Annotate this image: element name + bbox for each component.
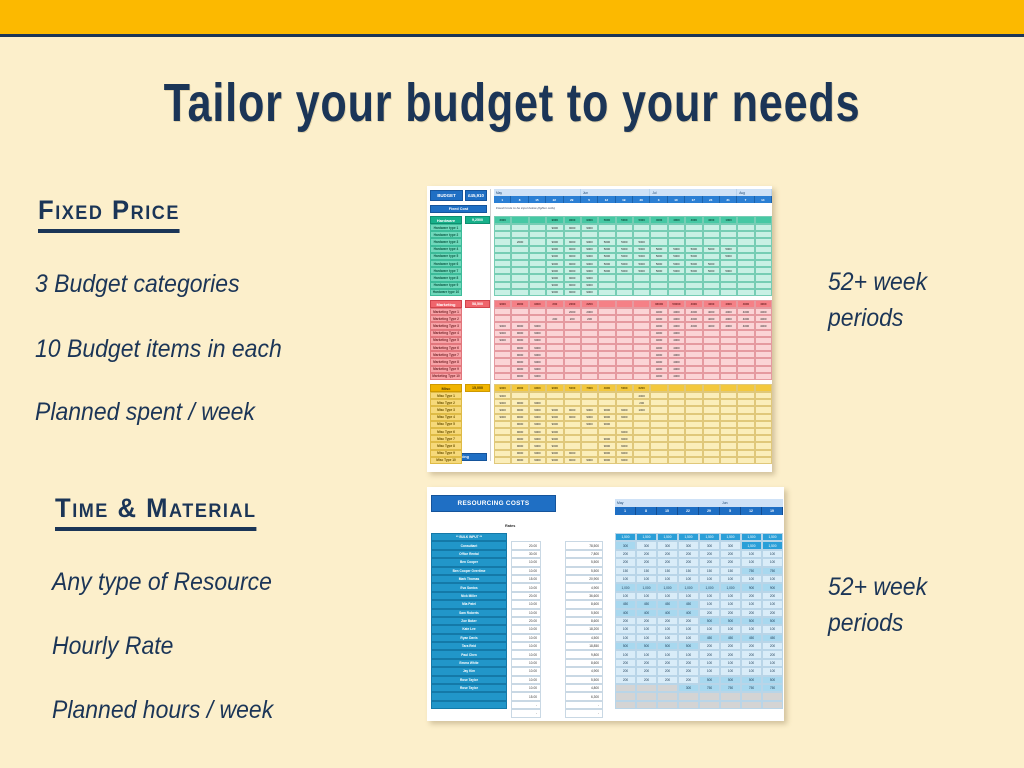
budget-total-cell[interactable]: 6200 — [633, 384, 650, 392]
budget-cell[interactable] — [685, 373, 702, 380]
budget-cell[interactable] — [546, 322, 563, 329]
resource-name[interactable]: Mark Thomas — [431, 575, 507, 583]
budget-cell[interactable]: 9000 — [546, 289, 563, 296]
budget-cell[interactable]: 9000 — [581, 421, 598, 428]
resource-rate[interactable]: 10.00 — [511, 609, 541, 617]
resourcing-cell[interactable]: 100 — [699, 600, 720, 608]
budget-cell[interactable]: 5000 — [650, 253, 667, 260]
budget-cell[interactable] — [650, 414, 667, 421]
budget-cell[interactable] — [703, 373, 720, 380]
budget-cell[interactable] — [650, 406, 667, 413]
budget-cell[interactable] — [581, 428, 598, 435]
resourcing-cell[interactable] — [636, 684, 657, 692]
budget-cell[interactable] — [737, 392, 754, 399]
budget-cell[interactable]: 5000 — [598, 238, 615, 245]
budget-cell[interactable] — [755, 392, 772, 399]
budget-cell[interactable]: 5000 — [650, 267, 667, 274]
budget-cell[interactable] — [494, 450, 511, 457]
budget-cell[interactable] — [546, 373, 563, 380]
budget-cell[interactable] — [633, 450, 650, 457]
budget-cell[interactable] — [703, 366, 720, 373]
resourcing-cell[interactable]: 450 — [615, 600, 636, 608]
budget-cell[interactable] — [529, 308, 546, 315]
resourcing-cell[interactable]: 100 — [762, 550, 783, 558]
resourcing-cell[interactable] — [657, 684, 678, 692]
resourcing-cell[interactable]: 200 — [657, 558, 678, 566]
budget-cell[interactable] — [511, 282, 528, 289]
budget-cell[interactable] — [564, 428, 581, 435]
budget-cell[interactable]: 9000 — [616, 435, 633, 442]
budget-cell[interactable] — [511, 315, 528, 322]
budget-total-cell[interactable]: 9000 — [546, 216, 563, 224]
budget-cell[interactable] — [737, 358, 754, 365]
budget-cell[interactable]: 9000 — [494, 322, 511, 329]
budget-cell[interactable] — [494, 282, 511, 289]
resource-name[interactable]: Ryan Davis — [431, 634, 507, 642]
budget-total-cell[interactable]: 5000 — [633, 216, 650, 224]
budget-cell[interactable] — [616, 289, 633, 296]
budget-cell[interactable]: 5000 — [633, 238, 650, 245]
resourcing-cell[interactable]: 200 — [678, 667, 699, 675]
budget-cell[interactable] — [703, 224, 720, 231]
budget-cell[interactable] — [685, 435, 702, 442]
resourcing-cell[interactable]: 500 — [678, 642, 699, 650]
budget-cell[interactable]: 9000 — [564, 274, 581, 281]
budget-cell[interactable] — [633, 231, 650, 238]
budget-cell[interactable] — [685, 358, 702, 365]
budget-total-cell[interactable]: 9000 — [511, 300, 528, 308]
budget-cell[interactable] — [633, 457, 650, 464]
budget-cell[interactable]: 9000 — [511, 406, 528, 413]
budget-cell[interactable] — [720, 358, 737, 365]
budget-cell[interactable] — [616, 373, 633, 380]
budget-cell[interactable] — [737, 253, 754, 260]
resourcing-cell[interactable]: 100 — [699, 625, 720, 633]
budget-cell[interactable] — [616, 231, 633, 238]
resourcing-cell[interactable]: 100 — [741, 625, 762, 633]
budget-cell[interactable]: 9000 — [511, 450, 528, 457]
budget-cell[interactable]: 4000 — [668, 373, 685, 380]
budget-cell[interactable] — [720, 414, 737, 421]
budget-cell[interactable]: 9000 — [598, 414, 615, 421]
budget-cell[interactable]: 9000 — [511, 373, 528, 380]
resourcing-cell[interactable]: 100 — [678, 575, 699, 583]
resourcing-cell[interactable]: 200 — [657, 667, 678, 675]
budget-cell[interactable] — [737, 231, 754, 238]
budget-cell[interactable] — [720, 428, 737, 435]
budget-cell[interactable]: 5000 — [720, 246, 737, 253]
budget-cell[interactable]: 9000 — [529, 358, 546, 365]
budget-cell[interactable]: 9000 — [598, 457, 615, 464]
resourcing-cell[interactable]: 200 — [741, 609, 762, 617]
resourcing-cell[interactable]: 200 — [678, 676, 699, 684]
budget-cell[interactable]: 9000 — [581, 406, 598, 413]
budget-cell[interactable]: 4000 — [737, 315, 754, 322]
resourcing-cell[interactable]: 100 — [741, 550, 762, 558]
resourcing-cell[interactable]: 200 — [615, 659, 636, 667]
budget-cell[interactable] — [511, 246, 528, 253]
budget-cell[interactable]: 9000 — [598, 421, 615, 428]
budget-cell[interactable] — [668, 428, 685, 435]
budget-cell[interactable] — [685, 366, 702, 373]
budget-cell[interactable] — [685, 392, 702, 399]
budget-cell[interactable]: 9000 — [546, 274, 563, 281]
budget-cell[interactable] — [668, 406, 685, 413]
resourcing-cell[interactable]: 500 — [657, 642, 678, 650]
budget-cell[interactable] — [685, 224, 702, 231]
budget-cell[interactable] — [494, 246, 511, 253]
budget-cell[interactable] — [633, 414, 650, 421]
budget-cell[interactable] — [737, 399, 754, 406]
resourcing-cell[interactable]: 100 — [636, 625, 657, 633]
budget-cell[interactable] — [494, 253, 511, 260]
budget-cell[interactable]: 9000 — [511, 457, 528, 464]
resourcing-cell[interactable]: 100 — [741, 575, 762, 583]
budget-cell[interactable] — [755, 260, 772, 267]
budget-cell[interactable] — [511, 253, 528, 260]
resourcing-cell[interactable]: 100 — [699, 592, 720, 600]
resourcing-cell[interactable]: 1,000 — [615, 583, 636, 591]
resourcing-cell[interactable] — [678, 692, 699, 700]
budget-cell[interactable] — [755, 442, 772, 449]
resourcing-cell[interactable]: 200 — [636, 550, 657, 558]
resourcing-cell[interactable]: 200 — [699, 550, 720, 558]
budget-cell[interactable]: 4000 — [650, 373, 667, 380]
budget-cell[interactable] — [616, 337, 633, 344]
budget-total-cell[interactable]: 1000 — [720, 216, 737, 224]
budget-cell[interactable]: 4000 — [668, 337, 685, 344]
budget-cell[interactable]: 5000 — [633, 260, 650, 267]
budget-cell[interactable] — [703, 231, 720, 238]
resource-rate[interactable]: 10.00 — [511, 567, 541, 575]
resourcing-cell[interactable]: 1,500 — [762, 541, 783, 549]
budget-total-cell[interactable] — [703, 384, 720, 392]
resourcing-cell[interactable]: 450 — [699, 634, 720, 642]
budget-cell[interactable] — [737, 373, 754, 380]
budget-cell[interactable] — [737, 330, 754, 337]
budget-cell[interactable] — [755, 238, 772, 245]
budget-total-cell[interactable]: 4000 — [703, 216, 720, 224]
budget-cell[interactable]: 5000 — [633, 267, 650, 274]
budget-cell[interactable]: 4000 — [755, 322, 772, 329]
resourcing-cell[interactable]: 1,500 — [678, 533, 699, 541]
budget-cell[interactable]: 9000 — [546, 421, 563, 428]
resourcing-cell[interactable]: 300 — [720, 541, 741, 549]
budget-cell[interactable]: 9000 — [581, 282, 598, 289]
resourcing-cell[interactable]: 450 — [741, 634, 762, 642]
budget-total-cell[interactable]: 9000 — [494, 384, 511, 392]
budget-cell[interactable] — [650, 442, 667, 449]
budget-cell[interactable] — [685, 399, 702, 406]
resourcing-cell[interactable]: 500 — [741, 617, 762, 625]
budget-cell[interactable] — [685, 238, 702, 245]
budget-total-cell[interactable]: 2200 — [581, 300, 598, 308]
budget-cell[interactable] — [703, 238, 720, 245]
budget-cell[interactable]: 9000 — [546, 282, 563, 289]
budget-cell[interactable]: 4000 — [650, 322, 667, 329]
budget-cell[interactable]: 9000 — [529, 435, 546, 442]
budget-cell[interactable] — [633, 337, 650, 344]
budget-cell[interactable]: 9000 — [564, 406, 581, 413]
resourcing-cell[interactable]: 900 — [762, 583, 783, 591]
budget-cell[interactable] — [737, 224, 754, 231]
budget-cell[interactable] — [598, 366, 615, 373]
resource-name[interactable]: Rose Taylor — [431, 684, 507, 692]
budget-cell[interactable] — [564, 392, 581, 399]
budget-cell[interactable]: 4000 — [703, 315, 720, 322]
budget-total-cell[interactable]: 5000 — [616, 384, 633, 392]
resourcing-cell[interactable]: 100 — [678, 625, 699, 633]
budget-cell[interactable]: 9000 — [494, 406, 511, 413]
budget-cell[interactable] — [668, 238, 685, 245]
budget-cell[interactable] — [616, 344, 633, 351]
resourcing-cell[interactable]: 100 — [636, 592, 657, 600]
budget-cell[interactable] — [720, 337, 737, 344]
budget-cell[interactable] — [685, 344, 702, 351]
resourcing-cell[interactable]: 100 — [636, 650, 657, 658]
budget-cell[interactable]: 4000 — [685, 308, 702, 315]
budget-cell[interactable] — [633, 366, 650, 373]
resourcing-cell[interactable]: 100 — [678, 634, 699, 642]
resourcing-cell[interactable]: 200 — [636, 617, 657, 625]
budget-cell[interactable]: 4000 — [650, 330, 667, 337]
budget-total-cell[interactable]: 9000 — [546, 384, 563, 392]
budget-cell[interactable] — [546, 231, 563, 238]
resource-name[interactable]: Emma White — [431, 659, 507, 667]
resourcing-cell[interactable]: 750 — [762, 567, 783, 575]
resourcing-cell[interactable]: 1,500 — [699, 533, 720, 541]
resourcing-cell[interactable] — [720, 701, 741, 709]
budget-cell[interactable] — [755, 406, 772, 413]
resourcing-cell[interactable]: 200 — [699, 642, 720, 650]
budget-cell[interactable]: 4000 — [668, 366, 685, 373]
budget-cell[interactable] — [720, 344, 737, 351]
resourcing-cell[interactable]: 200 — [678, 558, 699, 566]
budget-cell[interactable] — [650, 274, 667, 281]
budget-cell[interactable]: 9000 — [529, 457, 546, 464]
budget-cell[interactable] — [564, 351, 581, 358]
resourcing-cell[interactable]: 300 — [678, 684, 699, 692]
resourcing-cell[interactable]: 400 — [615, 609, 636, 617]
resourcing-cell[interactable]: 500 — [762, 617, 783, 625]
budget-cell[interactable]: 9000 — [494, 330, 511, 337]
budget-cell[interactable]: 9000 — [564, 414, 581, 421]
budget-cell[interactable]: 5000 — [616, 246, 633, 253]
budget-cell[interactable] — [633, 358, 650, 365]
budget-cell[interactable] — [564, 435, 581, 442]
budget-total-cell[interactable]: 4000 — [755, 300, 772, 308]
resourcing-cell[interactable]: 100 — [762, 575, 783, 583]
budget-cell[interactable]: 9000 — [581, 289, 598, 296]
budget-cell[interactable] — [564, 330, 581, 337]
resourcing-cell[interactable]: 100 — [762, 659, 783, 667]
resourcing-cell[interactable]: 450 — [762, 634, 783, 642]
budget-cell[interactable] — [581, 399, 598, 406]
resourcing-cell[interactable]: 200 — [741, 642, 762, 650]
budget-cell[interactable] — [755, 282, 772, 289]
resourcing-cell[interactable]: 100 — [720, 600, 741, 608]
budget-cell[interactable]: 2000 — [581, 308, 598, 315]
budget-cell[interactable] — [633, 351, 650, 358]
resourcing-cell[interactable]: 100 — [615, 650, 636, 658]
resourcing-cell[interactable]: 150 — [615, 567, 636, 575]
resourcing-cell[interactable]: 200 — [657, 550, 678, 558]
budget-cell[interactable]: 9000 — [598, 450, 615, 457]
resourcing-cell[interactable]: 200 — [657, 676, 678, 684]
resource-rate[interactable]: 20.00 — [511, 541, 541, 549]
budget-cell[interactable]: 5000 — [685, 267, 702, 274]
budget-cell[interactable]: 9000 — [494, 399, 511, 406]
budget-cell[interactable] — [529, 289, 546, 296]
budget-cell[interactable] — [633, 224, 650, 231]
resource-name[interactable]: Tara Reid — [431, 642, 507, 650]
budget-cell[interactable]: 9000 — [546, 238, 563, 245]
resourcing-cell[interactable]: 200 — [720, 550, 741, 558]
budget-cell[interactable] — [529, 267, 546, 274]
budget-cell[interactable]: 4000 — [668, 344, 685, 351]
budget-total-cell[interactable]: 4000 — [668, 216, 685, 224]
budget-cell[interactable] — [703, 392, 720, 399]
resourcing-cell[interactable]: 200 — [636, 659, 657, 667]
resource-rate[interactable]: 10.00 — [511, 684, 541, 692]
resourcing-cell[interactable]: 1,000 — [699, 583, 720, 591]
resource-name[interactable]: Consultant — [431, 541, 507, 549]
resourcing-cell[interactable]: 1,500 — [741, 541, 762, 549]
budget-cell[interactable]: 5000 — [616, 260, 633, 267]
budget-cell[interactable] — [685, 428, 702, 435]
budget-cell[interactable] — [720, 224, 737, 231]
budget-cell[interactable] — [633, 315, 650, 322]
resourcing-cell[interactable]: 400 — [678, 609, 699, 617]
budget-cell[interactable] — [668, 399, 685, 406]
budget-cell[interactable] — [494, 274, 511, 281]
budget-cell[interactable]: 9000 — [581, 246, 598, 253]
budget-cell[interactable]: 9000 — [511, 344, 528, 351]
resource-rate[interactable]: 10.00 — [511, 650, 541, 658]
budget-cell[interactable] — [633, 344, 650, 351]
budget-cell[interactable]: 9000 — [511, 414, 528, 421]
budget-cell[interactable] — [650, 231, 667, 238]
budget-cell[interactable] — [598, 344, 615, 351]
budget-cell[interactable] — [511, 392, 528, 399]
budget-cell[interactable] — [703, 337, 720, 344]
budget-total-cell[interactable]: 9000 — [511, 384, 528, 392]
budget-cell[interactable] — [529, 246, 546, 253]
resource-rate[interactable]: 20.00 — [511, 617, 541, 625]
budget-cell[interactable]: 9000 — [529, 428, 546, 435]
budget-cell[interactable]: 9000 — [546, 246, 563, 253]
budget-total-cell[interactable]: 4000 — [685, 216, 702, 224]
budget-cell[interactable] — [650, 421, 667, 428]
resourcing-cell[interactable]: 100 — [678, 592, 699, 600]
budget-cell[interactable] — [581, 322, 598, 329]
budget-cell[interactable]: 5000 — [598, 267, 615, 274]
resourcing-cell[interactable]: 200 — [615, 667, 636, 675]
budget-cell[interactable] — [581, 442, 598, 449]
budget-cell[interactable] — [529, 392, 546, 399]
budget-cell[interactable] — [703, 428, 720, 435]
budget-cell[interactable] — [494, 373, 511, 380]
resourcing-cell[interactable]: 200 — [741, 592, 762, 600]
budget-cell[interactable] — [581, 366, 598, 373]
resourcing-cell[interactable]: 900 — [741, 583, 762, 591]
budget-cell[interactable]: 9000 — [546, 435, 563, 442]
budget-cell[interactable] — [755, 337, 772, 344]
resourcing-cell[interactable] — [657, 692, 678, 700]
budget-cell[interactable]: 9000 — [581, 457, 598, 464]
budget-cell[interactable]: 200 — [633, 399, 650, 406]
budget-cell[interactable] — [616, 308, 633, 315]
budget-cell[interactable] — [511, 231, 528, 238]
budget-cell[interactable] — [668, 274, 685, 281]
budget-cell[interactable] — [755, 253, 772, 260]
budget-cell[interactable] — [737, 442, 754, 449]
resourcing-cell[interactable] — [657, 701, 678, 709]
budget-cell[interactable]: 9000 — [529, 344, 546, 351]
budget-cell[interactable]: 9000 — [581, 260, 598, 267]
budget-cell[interactable]: 9000 — [616, 450, 633, 457]
budget-cell[interactable] — [720, 282, 737, 289]
budget-cell[interactable] — [720, 289, 737, 296]
budget-cell[interactable]: 9000 — [511, 322, 528, 329]
budget-cell[interactable]: 9000 — [546, 428, 563, 435]
budget-cell[interactable] — [720, 351, 737, 358]
budget-cell[interactable]: 9000 — [529, 373, 546, 380]
resourcing-cell[interactable]: 1,500 — [636, 533, 657, 541]
budget-cell[interactable] — [546, 351, 563, 358]
budget-cell[interactable] — [685, 282, 702, 289]
resourcing-cell[interactable]: 500 — [762, 676, 783, 684]
budget-total-cell[interactable] — [755, 216, 772, 224]
budget-total-cell[interactable] — [737, 384, 754, 392]
resource-rate[interactable]: 10.00 — [511, 642, 541, 650]
budget-cell[interactable]: 9000 — [529, 421, 546, 428]
budget-cell[interactable] — [685, 421, 702, 428]
resourcing-cell[interactable]: 200 — [720, 650, 741, 658]
resourcing-cell[interactable] — [741, 692, 762, 700]
resourcing-cell[interactable]: 200 — [720, 558, 741, 566]
budget-cell[interactable]: 2000 — [633, 392, 650, 399]
budget-total-cell[interactable] — [633, 300, 650, 308]
budget-cell[interactable]: 9000 — [581, 224, 598, 231]
budget-cell[interactable]: 9000 — [546, 267, 563, 274]
budget-cell[interactable] — [633, 308, 650, 315]
budget-cell[interactable] — [564, 442, 581, 449]
budget-cell[interactable] — [685, 337, 702, 344]
budget-cell[interactable] — [494, 358, 511, 365]
resource-name[interactable]: Ben Cooper — [431, 558, 507, 566]
budget-cell[interactable] — [581, 358, 598, 365]
budget-cell[interactable] — [511, 274, 528, 281]
budget-cell[interactable]: 9000 — [598, 435, 615, 442]
budget-cell[interactable] — [755, 231, 772, 238]
budget-cell[interactable] — [598, 274, 615, 281]
budget-cell[interactable]: 9000 — [511, 421, 528, 428]
budget-cell[interactable] — [668, 289, 685, 296]
budget-cell[interactable]: 4000 — [650, 358, 667, 365]
budget-cell[interactable]: 9000 — [529, 322, 546, 329]
budget-cell[interactable] — [633, 428, 650, 435]
budget-total-cell[interactable]: 7000 — [581, 384, 598, 392]
budget-cell[interactable]: 9000 — [529, 399, 546, 406]
budget-cell[interactable] — [755, 224, 772, 231]
resource-name[interactable]: ** BULK INPUT ** — [431, 533, 507, 541]
budget-cell[interactable]: 5000 — [650, 246, 667, 253]
resourcing-cell[interactable]: 300 — [636, 541, 657, 549]
budget-cell[interactable] — [668, 231, 685, 238]
budget-cell[interactable] — [598, 399, 615, 406]
budget-cell[interactable] — [703, 399, 720, 406]
